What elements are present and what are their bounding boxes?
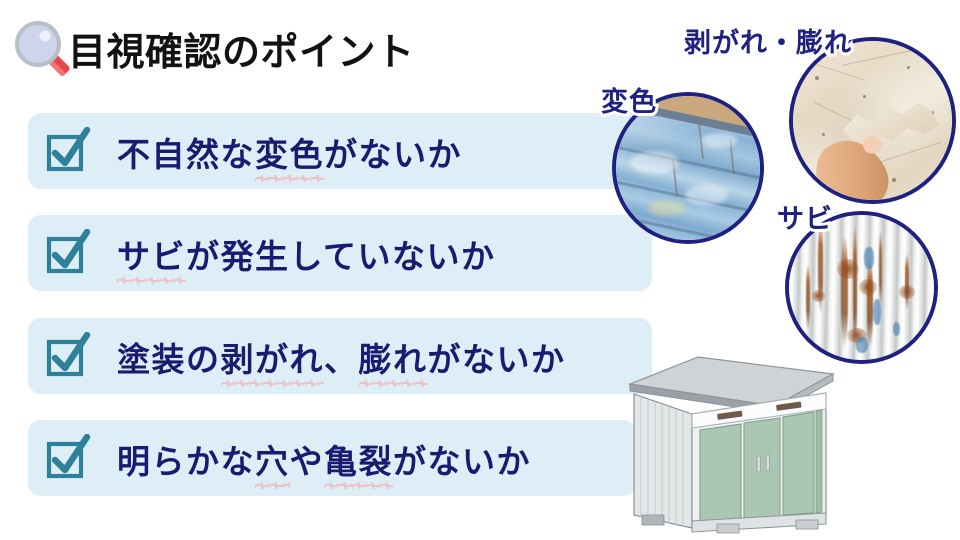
text-segment: 不自然な bbox=[117, 136, 255, 173]
checkbox-checked-icon[interactable] bbox=[45, 434, 91, 480]
checklist-item-4[interactable]: 明らかな穴や亀裂がないか bbox=[28, 420, 636, 496]
checkbox-svg bbox=[45, 332, 91, 378]
checklist-item-3-label: 塗装の剥がれ、膨れがないか bbox=[117, 333, 566, 381]
title-row: 目視確認のポイント bbox=[8, 16, 568, 90]
text-segment-underlined: 亀裂 bbox=[324, 435, 393, 483]
text-segment: がないか bbox=[393, 443, 531, 480]
storage-shed-svg bbox=[620, 352, 835, 540]
photo-label-discoloration: 変色 bbox=[601, 80, 657, 119]
text-segment: 塗装の bbox=[117, 341, 221, 378]
text-segment: や bbox=[290, 443, 325, 480]
checklist-item-4-label: 明らかな穴や亀裂がないか bbox=[117, 435, 531, 483]
text-segment-underlined: サビ bbox=[117, 230, 186, 278]
checklist-item-2-label: サビが発生していないか bbox=[117, 230, 496, 278]
slide-canvas: 目視確認のポイント 不自然な変色がないか サビが発生していないか bbox=[0, 0, 960, 540]
text-segment: 、 bbox=[324, 341, 359, 378]
photo-label-rust: サビ bbox=[777, 197, 833, 236]
storage-shed-illustration bbox=[620, 352, 835, 540]
checkbox-svg bbox=[45, 229, 91, 275]
photo-peeling-blistering bbox=[789, 37, 956, 204]
photo-rust-image bbox=[789, 215, 934, 360]
checklist-item-3[interactable]: 塗装の剥がれ、膨れがないか bbox=[28, 318, 652, 394]
text-segment-underlined: 剥がれ bbox=[221, 333, 325, 381]
checklist-item-1[interactable]: 不自然な変色がないか bbox=[28, 113, 660, 189]
text-segment-underlined: 穴 bbox=[255, 435, 290, 483]
text-segment: がないか bbox=[428, 341, 566, 378]
text-segment-underlined: 膨れ bbox=[359, 333, 428, 381]
magnifier-icon bbox=[8, 20, 70, 86]
magnifier-svg bbox=[8, 20, 70, 86]
photo-peeling-blistering-image bbox=[793, 41, 952, 200]
checkbox-checked-icon[interactable] bbox=[45, 332, 91, 378]
checklist-item-1-label: 不自然な変色がないか bbox=[117, 128, 462, 176]
text-segment: がないか bbox=[324, 136, 462, 173]
text-segment-underlined: 変色 bbox=[255, 128, 324, 176]
text-segment: が発生していないか bbox=[186, 238, 496, 275]
text-segment: 明らかな bbox=[117, 443, 255, 480]
checkbox-svg bbox=[45, 434, 91, 480]
checkbox-svg bbox=[45, 127, 91, 173]
checkbox-checked-icon[interactable] bbox=[45, 229, 91, 275]
checkbox-checked-icon[interactable] bbox=[45, 127, 91, 173]
checklist-item-2[interactable]: サビが発生していないか bbox=[28, 215, 652, 291]
photo-label-peeling-blistering: 剥がれ・膨れ bbox=[684, 21, 852, 60]
page-title: 目視確認のポイント bbox=[68, 34, 415, 72]
